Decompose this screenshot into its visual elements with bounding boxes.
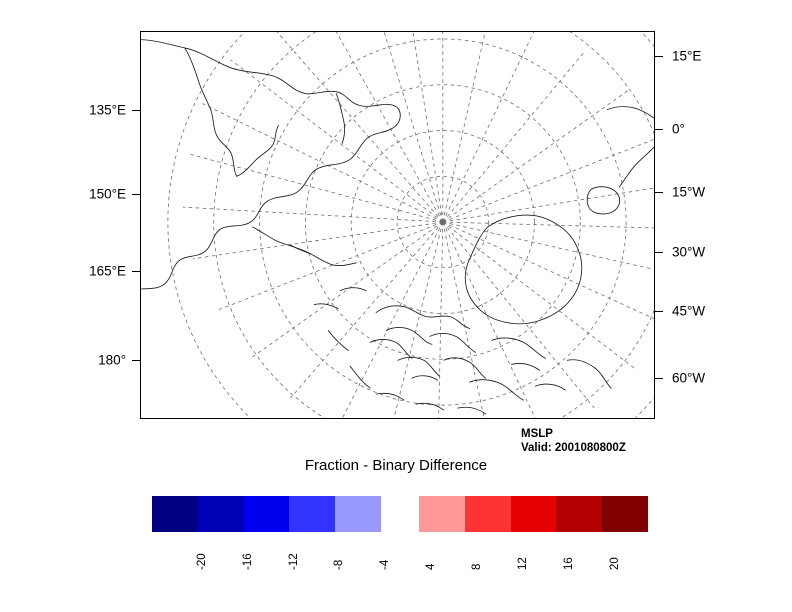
right-tick-0 <box>654 56 663 57</box>
colorbar[interactable] <box>152 496 648 532</box>
colorbar-tick-label-m20: -20 <box>197 553 209 570</box>
colorbar-block-pos-5 <box>602 496 648 532</box>
map-panel[interactable] <box>140 31 655 419</box>
axis-label-right-30w: 30°W <box>672 245 705 259</box>
colorbar-block-neg-5 <box>152 496 198 532</box>
colorbar-tick-label-m4: -4 <box>380 560 392 570</box>
colorbar-tick-label-m12: -12 <box>289 553 301 570</box>
coastline-layer <box>141 40 654 414</box>
right-tick-2 <box>654 192 663 193</box>
axis-label-right-45w: 45°W <box>672 304 705 318</box>
axis-label-right-15e: 15°E <box>672 49 701 63</box>
colorbar-gap <box>381 496 419 532</box>
left-tick-0 <box>132 110 141 111</box>
axis-label-right-60w: 60°W <box>672 371 705 385</box>
axis-label-right-0: 0° <box>672 122 685 136</box>
colorbar-tick-label-m16: -16 <box>243 553 255 570</box>
axis-label-left-165e: 165°E <box>48 264 126 278</box>
left-tick-1 <box>132 194 141 195</box>
colorbar-block-neg-3 <box>244 496 290 532</box>
figure-root: 135°E 150°E 165°E 180° 15°E 0° 15°W 30°W… <box>0 0 792 612</box>
annotation-valid-time: Valid: 2001080800Z <box>521 441 626 455</box>
figure-caption: Fraction - Binary Difference <box>0 458 792 473</box>
colorbar-block-pos-4 <box>556 496 602 532</box>
colorbar-block-pos-2 <box>465 496 511 532</box>
colorbar-block-neg-4 <box>198 496 244 532</box>
colorbar-block-pos-3 <box>511 496 557 532</box>
left-tick-2 <box>132 271 141 272</box>
right-tick-1 <box>654 129 663 130</box>
colorbar-tick-label-p4: 4 <box>426 564 438 570</box>
map-canvas <box>141 32 654 418</box>
colorbar-block-neg-2 <box>289 496 335 532</box>
axis-label-left-150e: 150°E <box>48 187 126 201</box>
colorbar-tick-label-m8: -8 <box>334 560 346 570</box>
right-tick-4 <box>654 311 663 312</box>
colorbar-tick-label-p16: 16 <box>564 557 576 570</box>
colorbar-block-pos-1 <box>419 496 465 532</box>
right-tick-3 <box>654 252 663 253</box>
axis-label-left-180: 180° <box>48 353 126 367</box>
colorbar-tick-label-p12: 12 <box>518 557 530 570</box>
right-tick-5 <box>654 378 663 379</box>
left-tick-3 <box>132 360 141 361</box>
axis-label-left-135e: 135°E <box>48 103 126 117</box>
colorbar-block-neg-1 <box>335 496 381 532</box>
annotation-field: MSLP <box>521 427 553 441</box>
colorbar-tick-label-p8: 8 <box>472 564 484 570</box>
colorbar-tick-label-p20: 20 <box>610 557 622 570</box>
axis-label-right-15w: 15°W <box>672 185 705 199</box>
